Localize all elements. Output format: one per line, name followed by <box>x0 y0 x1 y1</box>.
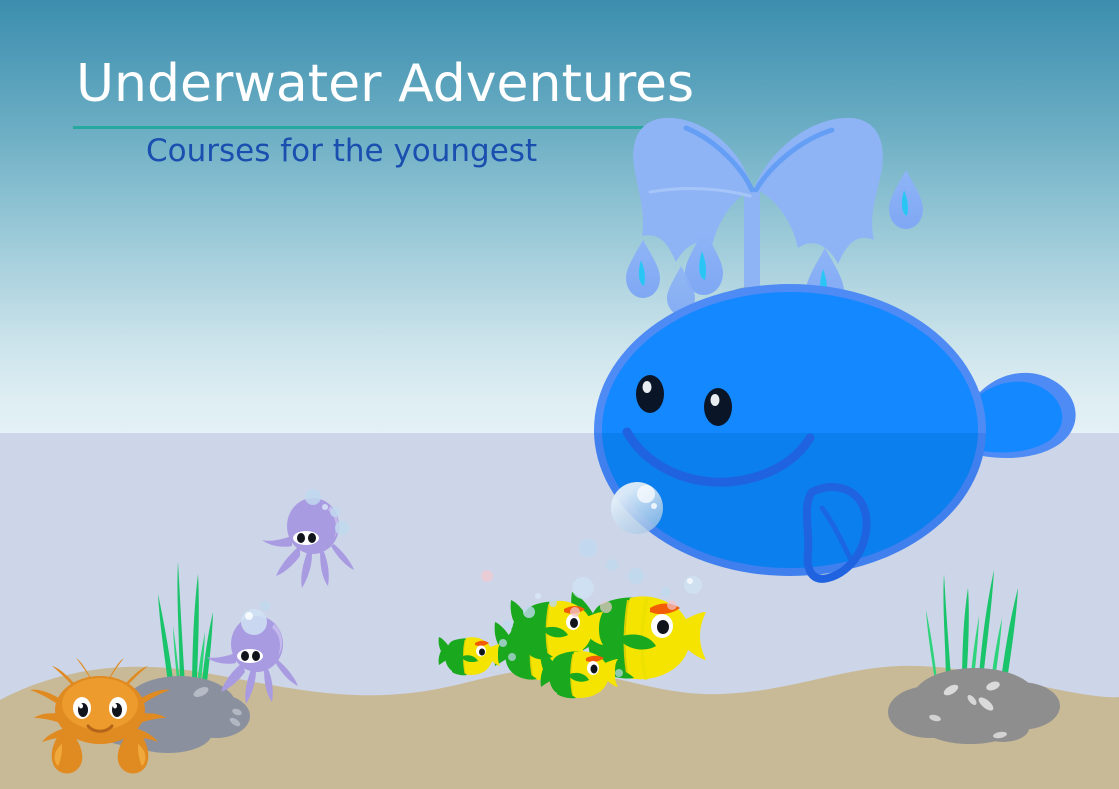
bubble <box>628 568 644 584</box>
bubble <box>661 587 671 597</box>
bubble-pink <box>600 601 612 613</box>
ambient-bubbles <box>0 0 1119 789</box>
bubble <box>615 669 623 677</box>
bubble-pink <box>481 570 493 582</box>
bubble <box>508 653 516 661</box>
bubble <box>535 593 541 599</box>
bubble <box>684 576 702 594</box>
slide-canvas: Underwater Adventures Courses for the yo… <box>0 0 1119 789</box>
bubble <box>572 577 594 599</box>
bubble <box>499 639 507 647</box>
bubble <box>503 620 513 630</box>
bubble-pink <box>667 600 677 610</box>
bubble-highlight <box>687 578 693 584</box>
bubble <box>523 606 535 618</box>
bubble <box>579 539 597 557</box>
bubble-pink <box>570 607 580 617</box>
bubble <box>606 559 618 571</box>
bubble <box>549 599 557 607</box>
